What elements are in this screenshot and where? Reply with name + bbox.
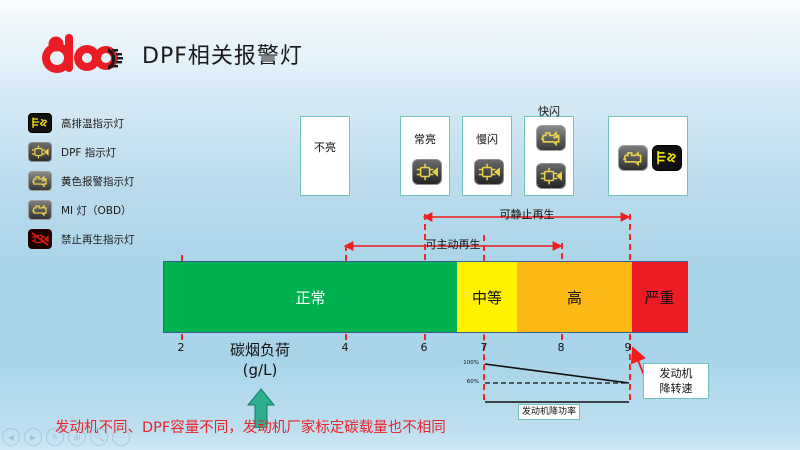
grid-icon[interactable]: ⊞ (68, 428, 86, 446)
dpf-icon (412, 159, 442, 185)
bar-segment-high: 高 (517, 262, 632, 332)
state-box-caption: 不亮 (301, 139, 349, 155)
derate-chart-title: 发动机降功率 (518, 404, 580, 420)
mi-lamp-icon (618, 145, 648, 171)
state-box-slow-blink[interactable]: 慢闪 (462, 116, 512, 196)
dpf-icon-flashing (536, 163, 566, 189)
bar-segment-normal: 正常 (164, 262, 457, 332)
static-regen-label: 可静止再生 (500, 206, 555, 222)
state-box-steady[interactable]: 常亮 (400, 116, 450, 196)
state-box-off[interactable]: 不亮 (300, 116, 350, 196)
legend-item-label: 禁止再生指示灯 (61, 232, 135, 247)
legend-item-label: 黄色报警指示灯 (61, 174, 135, 189)
axis-label-soot-load: 碳烟负荷 (g/L) (200, 340, 320, 380)
bar-segment-label: 正常 (295, 287, 325, 308)
dpf-icon (28, 142, 52, 162)
legend-item-label: DPF 指示灯 (61, 145, 116, 160)
active-regen-label: 可主动再生 (426, 236, 481, 252)
yellow-warning-icon (536, 125, 566, 151)
search-icon[interactable]: 🔍 (90, 428, 108, 446)
bar-segment-medium: 中等 (457, 262, 517, 332)
bar-segment-label: 中等 (472, 287, 502, 308)
legend: 高排温指示灯 DPF 指示灯 黄色报警指示灯 (28, 110, 135, 255)
callout-line-1: 发动机 (649, 366, 703, 381)
xtick-7: 7 (481, 341, 488, 354)
xtick-2: 2 (178, 341, 185, 354)
page-title: DPF相关报警灯 (142, 38, 303, 70)
axis-label-unit: (g/L) (200, 360, 320, 380)
bar-segment-severe: 严重 (632, 262, 687, 332)
player-controls[interactable]: ◀ ▶ ✎ ⊞ 🔍 ⋯ (2, 428, 130, 446)
brand-logo (38, 28, 132, 74)
axis-label-text: 碳烟负荷 (200, 340, 320, 360)
regeneration-inhibit-icon (28, 229, 52, 249)
slide-canvas: DPF相关报警灯 高排温指示灯 DPF 指示灯 (0, 0, 800, 450)
next-button[interactable]: ▶ (24, 428, 42, 446)
xtick-8: 8 (558, 341, 565, 354)
soot-load-bar: 正常 中等 高 严重 (163, 261, 688, 333)
state-box-caption: 常亮 (401, 131, 449, 147)
logo-mark (38, 28, 132, 74)
more-icon[interactable]: ⋯ (112, 428, 130, 446)
legend-item-label: 高排温指示灯 (61, 116, 124, 131)
state-box-caption: 慢闪 (463, 131, 511, 147)
engine-power-derate-chart (483, 355, 633, 407)
derate-line (485, 364, 629, 383)
derate-ytick-100: 100% (455, 360, 479, 366)
legend-item-mi-lamp: MI 灯（OBD） (28, 197, 135, 223)
state-box-mi-and-temp[interactable] (608, 116, 688, 196)
yellow-warning-icon (28, 171, 52, 191)
derate-ytick-60: 60% (455, 379, 479, 385)
state-box-caption: 快闪 (525, 103, 573, 119)
bar-segment-label: 严重 (644, 287, 674, 308)
legend-item-dpf: DPF 指示灯 (28, 139, 135, 165)
xtick-6: 6 (421, 341, 428, 354)
legend-item-yellow-warning: 黄色报警指示灯 (28, 168, 135, 194)
xtick-4: 4 (342, 341, 349, 354)
high-exhaust-temp-icon (28, 113, 52, 133)
prev-button[interactable]: ◀ (2, 428, 20, 446)
bar-segment-label: 高 (567, 287, 582, 308)
mi-lamp-icon (28, 200, 52, 220)
state-box-fast-blink[interactable]: 快闪 (524, 116, 574, 196)
high-exhaust-temp-icon (652, 145, 682, 171)
callout-line-2: 降转速 (649, 381, 703, 396)
dpf-icon-flashing (474, 159, 504, 185)
legend-item-label: MI 灯（OBD） (61, 203, 132, 218)
xtick-9: 9 (625, 341, 632, 354)
pen-icon[interactable]: ✎ (46, 428, 64, 446)
engine-speed-derate-callout: 发动机 降转速 (643, 363, 709, 399)
legend-item-high-exhaust-temp: 高排温指示灯 (28, 110, 135, 136)
legend-item-regen-inhibit: 禁止再生指示灯 (28, 226, 135, 252)
